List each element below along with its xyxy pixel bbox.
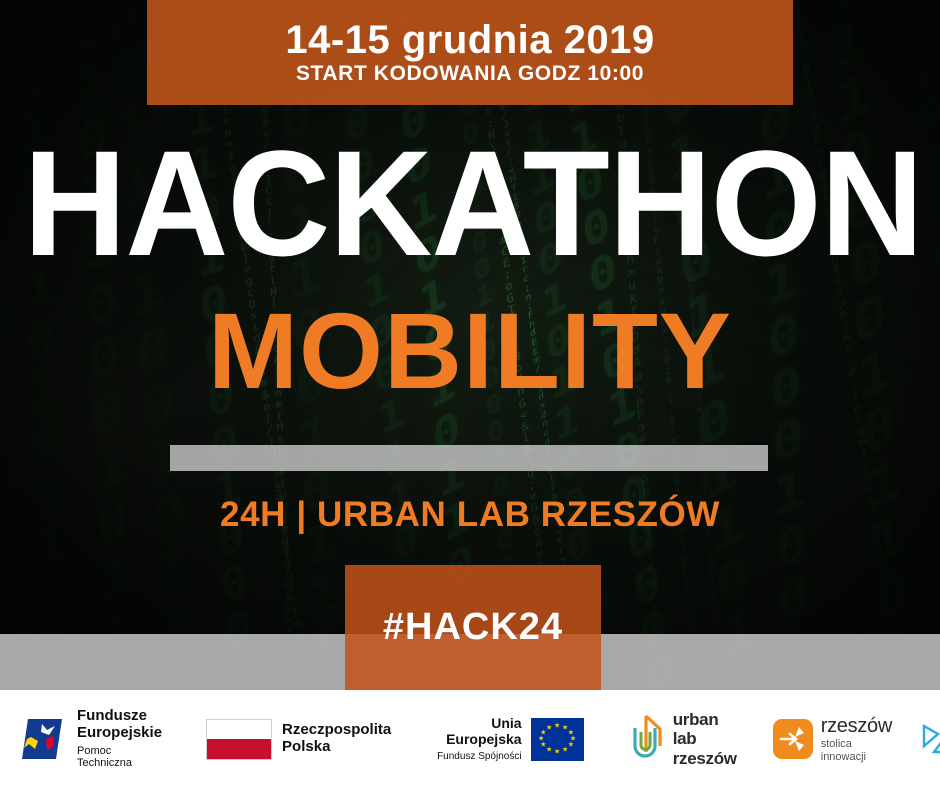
eu-flag-icon: ★★★★★★★★★★★★: [531, 718, 584, 761]
logo-line-2: stolica innowacji: [821, 738, 892, 763]
venue-line: 24H | URBAN LAB RZESZÓW: [0, 495, 940, 535]
rzeszow-arrows-icon: [773, 719, 813, 759]
hashtag-text: #HACK24: [383, 606, 563, 649]
logo-rzeszow-stolica-innowacji: rzeszów stolica innowacji: [773, 711, 892, 767]
divider-bar: [170, 445, 768, 471]
logo-line-2: rzeszów: [673, 749, 737, 768]
logo-line-1: Fundusze: [77, 708, 162, 725]
fundusze-europejskie-icon: [22, 715, 68, 763]
logo-fundusze-europejskie: Fundusze Europejskie Pomoc Techniczna: [22, 711, 162, 767]
event-start-time: START KODOWANIA GODZ 10:00: [296, 62, 644, 85]
logo-line-1: Unia Europejska: [433, 716, 521, 747]
logo-rzeszow-smart-city: RZESZÓW Smart City ruch miejski: [918, 711, 940, 767]
logo-rzeczpospolita-polska: Rzeczpospolita Polska: [206, 711, 391, 767]
smart-city-arrow-icon: [918, 712, 940, 767]
page-subtitle: MOBILITY: [0, 297, 940, 405]
event-date: 14-15 grudnia 2019: [285, 20, 654, 60]
logo-line-2: Fundusz Spójności: [433, 751, 521, 762]
logo-unia-europejska: Unia Europejska Fundusz Spójności ★★★★★★…: [433, 711, 583, 767]
hashtag-box: #HACK24: [345, 565, 601, 690]
logo-line-1: rzeszów: [821, 715, 892, 737]
logo-line-3: Pomoc Techniczna: [77, 745, 162, 770]
logo-urban-lab-rzeszow: urban lab rzeszów: [624, 711, 737, 767]
page-title: HACKATHON: [24, 128, 917, 278]
hackathon-poster: $ ; t / : H e y k a x f $ z h m l i k r …: [0, 0, 940, 788]
logo-line-1: Rzeczpospolita: [282, 722, 391, 739]
logo-line-2: Polska: [282, 739, 391, 756]
poland-flag-icon: [206, 719, 272, 760]
logo-line-2: Europejskie: [77, 725, 162, 742]
logo-line-1: urban lab: [673, 710, 737, 748]
urban-lab-icon: [624, 712, 666, 767]
date-banner: 14-15 grudnia 2019 START KODOWANIA GODZ …: [147, 0, 793, 105]
sponsor-logo-bar: Fundusze Europejskie Pomoc Techniczna Rz…: [0, 690, 940, 788]
